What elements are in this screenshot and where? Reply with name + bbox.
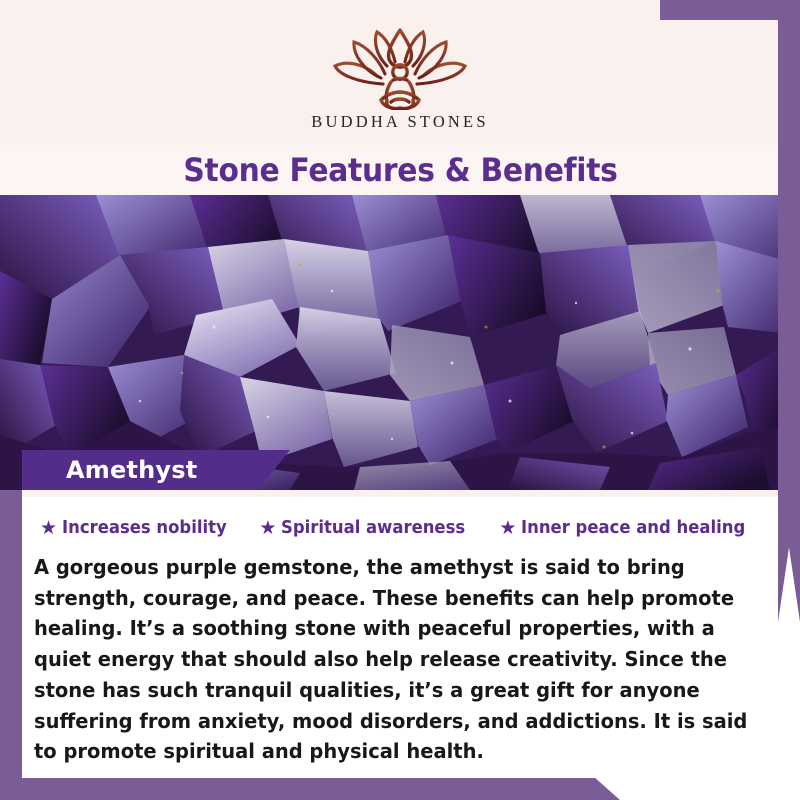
title-band: Stone Features & Benefits	[0, 145, 800, 195]
stone-name-banner: Amethyst	[22, 450, 290, 490]
benefit-label: Spiritual awareness	[281, 518, 465, 538]
benefits-list: ★ Increases nobility ★ Spiritual awarene…	[34, 518, 766, 538]
stone-name-label: Amethyst	[22, 456, 197, 484]
benefit-item-1: ★ Increases nobility	[40, 518, 237, 538]
benefit-label: Increases nobility	[62, 518, 227, 538]
hero-image: Amethyst	[0, 195, 800, 490]
benefit-item-2: ★ Spiritual awareness	[259, 518, 477, 538]
infographic-page: BUDDHA STONES Stone Features & Benefits	[0, 0, 800, 800]
brand-header: BUDDHA STONES	[0, 0, 800, 145]
benefit-label: Inner peace and healing	[521, 518, 745, 538]
content-section: ★ Increases nobility ★ Spiritual awarene…	[0, 490, 800, 800]
stone-description: A gorgeous purple gemstone, the amethyst…	[34, 552, 762, 767]
star-icon: ★	[40, 519, 57, 538]
star-icon: ★	[259, 519, 276, 538]
benefit-item-3: ★ Inner peace and healing	[499, 518, 760, 538]
brand-name: BUDDHA STONES	[311, 112, 488, 132]
frame-border-bottom	[0, 778, 620, 800]
page-title: Stone Features & Benefits	[183, 151, 617, 189]
frame-border-right	[778, 0, 800, 622]
lotus-meditation-icon	[325, 22, 475, 110]
frame-border-left	[0, 490, 22, 782]
star-icon: ★	[499, 519, 516, 538]
